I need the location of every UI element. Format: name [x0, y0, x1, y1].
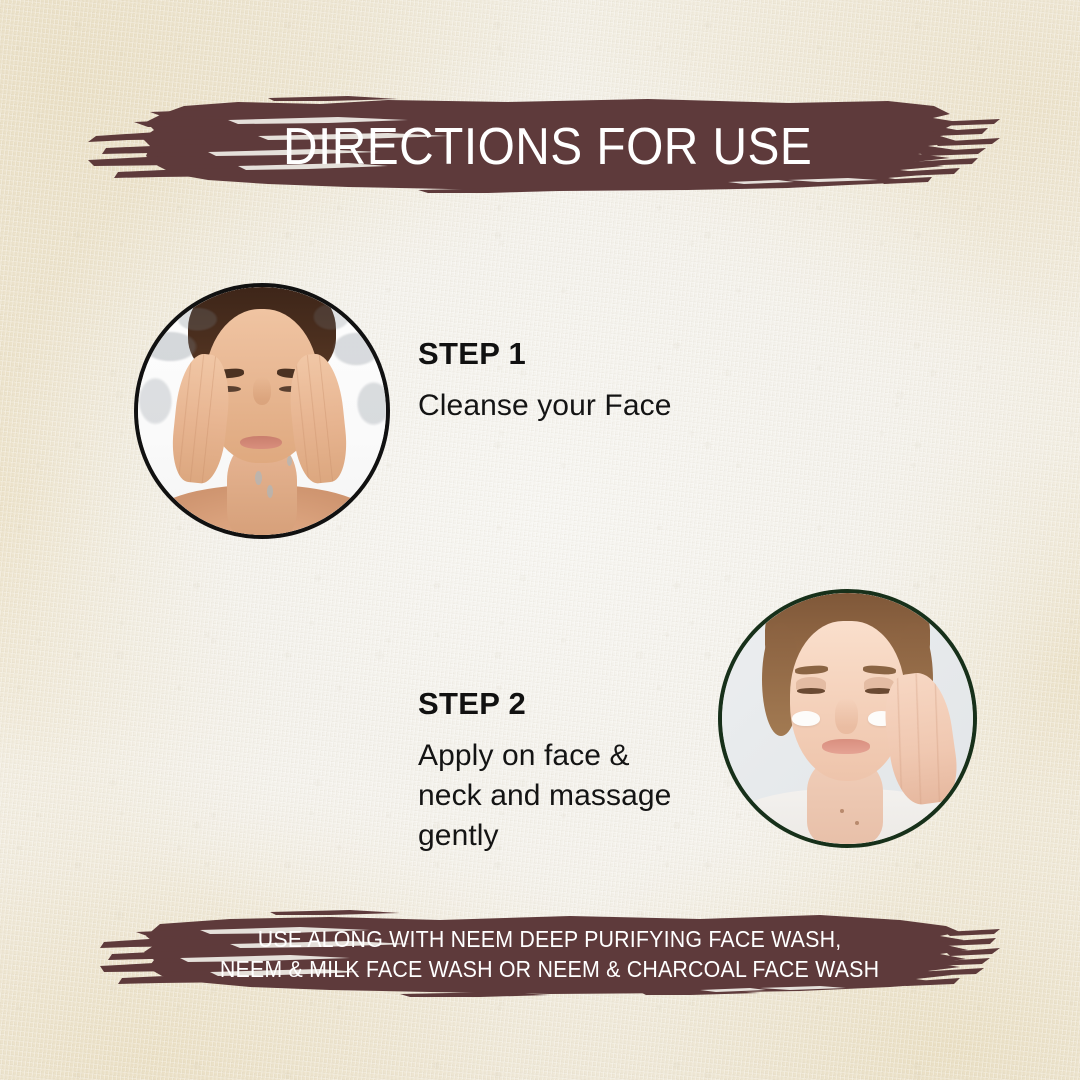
- step-2-image-crop: [722, 593, 973, 844]
- eye-left-shape: [797, 688, 825, 694]
- nose-shape: [835, 698, 858, 733]
- directions-for-use-poster: DIRECTIONS FOR USE: [0, 0, 1080, 1080]
- water-drop-shape: [255, 471, 262, 486]
- lips-shape: [822, 739, 870, 754]
- mole-mark: [840, 809, 844, 813]
- page-title: DIRECTIONS FOR USE: [283, 121, 812, 173]
- footer-note: USE ALONG WITH NEEM DEEP PURIFYING FACE …: [220, 924, 879, 985]
- footer-brush-banner: USE ALONG WITH NEEM DEEP PURIFYING FACE …: [100, 908, 1000, 1000]
- cream-dab-left: [792, 711, 820, 726]
- step-2-description: Apply on face & neck and massage gently: [418, 736, 718, 856]
- step-1-photo: [134, 283, 390, 539]
- step-1-text-block: STEP 1 Cleanse your Face: [418, 338, 748, 426]
- water-drop-shape: [267, 485, 273, 497]
- header-brush-banner: DIRECTIONS FOR USE: [88, 92, 1000, 204]
- water-splash-shape: [138, 287, 386, 535]
- step-2-photo: [718, 589, 977, 848]
- step-2-label: STEP 2: [418, 688, 718, 719]
- washing-face-illustration: [138, 287, 386, 535]
- step-2-text-block: STEP 2 Apply on face & neck and massage …: [418, 688, 718, 856]
- step-1-description: Cleanse your Face: [418, 386, 748, 426]
- step-1-image-crop: [138, 287, 386, 535]
- applying-cream-illustration: [722, 593, 973, 844]
- water-drop-shape: [287, 456, 292, 466]
- step-1-label: STEP 1: [418, 338, 748, 369]
